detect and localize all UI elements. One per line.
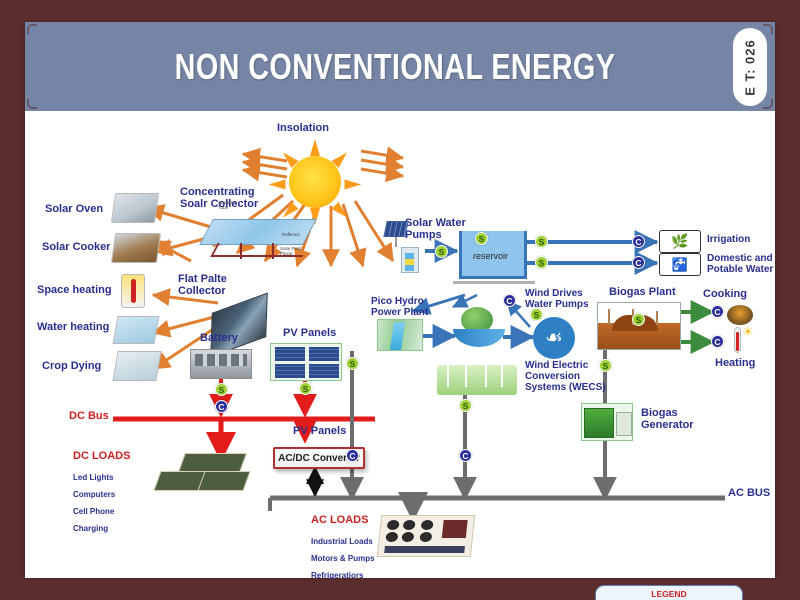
heating-icon: ☀ bbox=[728, 327, 752, 357]
dc-load-item: Charging bbox=[73, 525, 115, 534]
battery-label: Battery bbox=[200, 333, 238, 345]
domestic-water-label: Domestic and Potable Water bbox=[707, 254, 773, 276]
biogas-generator-sensor-badge: S bbox=[599, 359, 612, 372]
wind-farm-icon bbox=[437, 359, 517, 395]
wecs-sensor-badge: S bbox=[459, 399, 472, 412]
concentrating-collector-icon: Absorber Tube Reflector Solar Field Pipi… bbox=[200, 209, 315, 264]
corner-bracket-bottom-left bbox=[27, 99, 37, 109]
biogas-plant-icon bbox=[597, 302, 681, 350]
course-code-text: E T: 026 bbox=[743, 39, 758, 95]
diagram-canvas: Insolation Solar Oven Solar Cooker Space… bbox=[25, 111, 775, 578]
space-heating-label: Space heating bbox=[37, 285, 112, 297]
biogas-plant-sensor-badge: S bbox=[632, 313, 645, 326]
slide-card: NON CONVENTIONAL ENERGY E T: 026 bbox=[25, 22, 775, 578]
dcbus-controller-badge: C bbox=[215, 400, 228, 413]
ac-load-item: Refrigeratiors bbox=[311, 572, 375, 581]
ac-load-item: Motors & Pumps bbox=[311, 555, 375, 564]
biogas-generator-icon bbox=[581, 403, 633, 441]
pv-panels-bus-label: PV Panels bbox=[293, 426, 346, 438]
legend-box: LEGEND S Sensor for Monitoring C Control… bbox=[595, 585, 743, 600]
ac-loads-title: AC LOADS bbox=[311, 515, 368, 527]
dc-loads-title: DC LOADS bbox=[73, 451, 130, 463]
crop-drying-label: Crop Dying bbox=[42, 361, 101, 373]
water-heating-label: Water heating bbox=[37, 322, 109, 334]
solar-water-pump-icon bbox=[383, 219, 431, 274]
windmill-icon: ☙ bbox=[533, 317, 575, 359]
heating-controller-badge: C bbox=[711, 335, 724, 348]
solar-pump-sensor-badge: S bbox=[435, 245, 448, 258]
stream-tree-icon bbox=[453, 307, 505, 351]
solar-cooker-icon bbox=[111, 233, 161, 263]
battery-sensor-badge: S bbox=[215, 383, 228, 396]
cooking-icon bbox=[727, 303, 753, 325]
solar-field-piping-label: Solar Field Piping bbox=[280, 247, 302, 257]
corner-bracket-bottom-right bbox=[763, 99, 773, 109]
dc-load-item: Computers bbox=[73, 491, 115, 500]
cooking-label: Cooking bbox=[703, 289, 747, 301]
dc-load-item: Cell Phone bbox=[73, 508, 115, 517]
ac-bus-label: AC BUS bbox=[728, 488, 770, 500]
solar-oven-label: Solar Oven bbox=[45, 204, 103, 216]
battery-icon bbox=[190, 349, 252, 379]
reservoir-label: reservoir bbox=[473, 251, 508, 261]
solar-cooker-label: Solar Cooker bbox=[42, 242, 110, 254]
flat-plate-collector-label: Flat Palte Collector bbox=[178, 274, 227, 298]
ac-loads-items: Industrial Loads Motors & Pumps Refriger… bbox=[311, 529, 375, 589]
biogas-plant-label: Biogas Plant bbox=[609, 287, 676, 299]
domestic-water-sensor-badge: S bbox=[535, 256, 548, 269]
sun-graphic bbox=[278, 145, 352, 219]
domestic-water-icon: 🚰 bbox=[659, 253, 701, 276]
irrigation-controller-badge: C bbox=[632, 235, 645, 248]
irrigation-icon: 🌿 bbox=[659, 230, 701, 253]
pv-panels-label: PV Panels bbox=[283, 328, 336, 340]
absorber-tube-label: Absorber Tube bbox=[218, 201, 236, 211]
biogas-generator-label: Biogas Generator bbox=[641, 408, 694, 432]
page-title: NON CONVENTIONAL ENERGY bbox=[147, 46, 643, 88]
slide-header: NON CONVENTIONAL ENERGY E T: 026 bbox=[25, 22, 775, 111]
wind-pump-sensor-badge: S bbox=[530, 308, 543, 321]
reservoir-inlet-sensor-badge: S bbox=[475, 232, 488, 245]
domestic-water-controller-badge: C bbox=[632, 256, 645, 269]
pico-hydro-icon bbox=[377, 319, 423, 351]
crop-drying-icon bbox=[112, 351, 161, 381]
irrigation-sensor-badge: S bbox=[535, 235, 548, 248]
pv-panels-icon bbox=[270, 343, 342, 381]
cooking-controller-badge: C bbox=[711, 305, 724, 318]
course-code-badge: E T: 026 bbox=[733, 28, 767, 106]
space-heating-icon bbox=[121, 274, 145, 308]
legend-title: LEGEND bbox=[602, 589, 736, 599]
dc-loads-icon bbox=[157, 453, 247, 497]
water-heating-icon bbox=[113, 316, 160, 344]
pico-hydro-controller-badge: C bbox=[346, 449, 359, 462]
corner-bracket-top-right bbox=[763, 24, 773, 34]
wecs-label: Wind Electric Conversion Systems (WECS) bbox=[525, 361, 606, 393]
pv-panels-sensor-badge: S bbox=[299, 382, 312, 395]
dc-loads-items: Led Lights Computers Cell Phone Charging bbox=[73, 465, 115, 543]
pico-hydro-label: Pico Hydro Power Plant bbox=[371, 297, 428, 319]
pico-hydro-sensor-badge: S bbox=[346, 357, 359, 370]
reflector-label: Reflector bbox=[282, 233, 300, 238]
dc-bus-label: DC Bus bbox=[69, 411, 109, 423]
dc-load-item: Led Lights bbox=[73, 474, 115, 483]
reservoir-base bbox=[453, 281, 535, 284]
slide-background: NON CONVENTIONAL ENERGY E T: 026 bbox=[0, 0, 800, 600]
heating-label: Heating bbox=[715, 358, 755, 370]
wind-pump-controller-badge: C bbox=[503, 294, 516, 307]
wecs-controller-badge: C bbox=[459, 449, 472, 462]
ac-loads-icon bbox=[377, 515, 475, 557]
irrigation-label: Irrigation bbox=[707, 235, 750, 246]
solar-oven-icon bbox=[111, 193, 159, 223]
ac-load-item: Industrial Loads bbox=[311, 538, 375, 547]
insolation-label: Insolation bbox=[277, 123, 329, 135]
corner-bracket-top-left bbox=[27, 24, 37, 34]
